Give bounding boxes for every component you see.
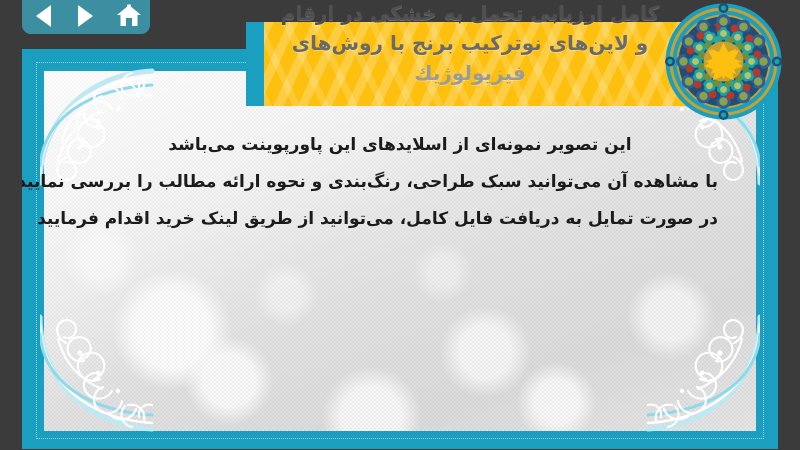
body-line-2: با مشاهده آن می‌توانید سبک طراحی، رنگ‌بن…	[82, 164, 718, 201]
body-line-1: این تصویر نمونه‌ای از اسلایدهای این پاور…	[82, 127, 718, 164]
navigation-bar	[22, 0, 150, 34]
body-line-3: در صورت تمایل به دریافت فایل کامل، می‌تو…	[82, 201, 718, 238]
forward-button[interactable]	[73, 3, 99, 29]
page-title: کامل ارزیابی تحمل به خشکی در ارقام و لای…	[250, 0, 690, 88]
title-line-2: و لاین‌های نوترکیب برنج با روش‌های	[250, 28, 690, 58]
triangle-right-icon	[78, 5, 93, 27]
slide-canvas	[44, 71, 756, 431]
slide-body-text: این تصویر نمونه‌ای از اسلایدهای این پاور…	[82, 127, 718, 238]
title-line-3: فیزیولوژیك	[250, 58, 690, 88]
back-button[interactable]	[30, 3, 56, 29]
slide-viewer: این تصویر نمونه‌ای از اسلایدهای این پاور…	[0, 0, 800, 450]
home-button[interactable]	[116, 3, 142, 29]
home-icon	[116, 4, 142, 28]
title-line-1: کامل ارزیابی تحمل به خشکی در ارقام	[250, 0, 690, 28]
persian-medallion-icon	[665, 3, 782, 120]
triangle-left-icon	[36, 5, 51, 27]
